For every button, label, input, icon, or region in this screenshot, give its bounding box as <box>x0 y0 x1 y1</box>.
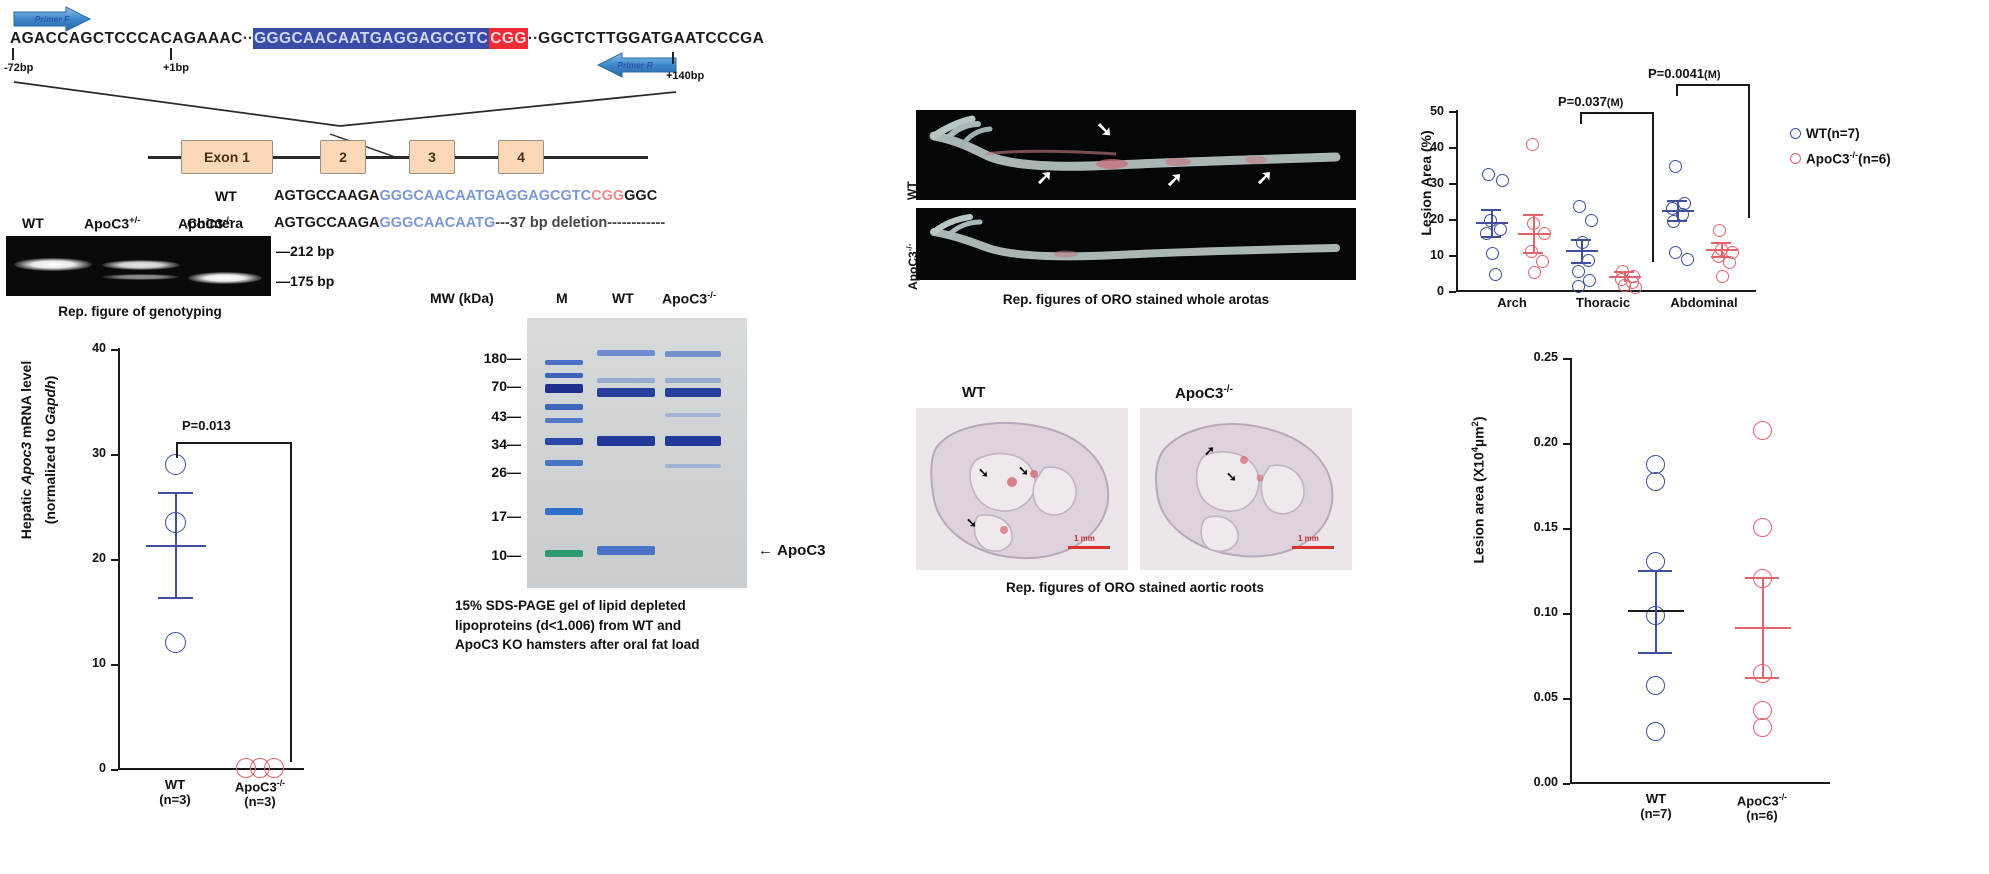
lesion-errcap-ko-arch <box>1523 252 1543 254</box>
root-point-ko <box>1753 421 1772 440</box>
legend-dot-ko-icon <box>1790 153 1801 164</box>
lesion-errorbar-ko-arch <box>1533 214 1535 252</box>
histology-photo-ko: ➚ ➘ 1 mm <box>1140 408 1352 570</box>
aorta-arrow-icon: ➚ <box>1036 168 1053 188</box>
sds-mw-34: 34— <box>455 436 521 452</box>
lesion-errorbar-wt-arch <box>1491 209 1493 236</box>
mrna-y-axis <box>118 348 120 770</box>
lesion-bracket-top-thoracic <box>1580 112 1654 114</box>
sds-mw-10: 10— <box>455 547 521 563</box>
lesion-point-ko-abdominal <box>1713 224 1726 237</box>
lesion-pct-ylabel-10: 10 <box>1412 248 1444 262</box>
wt-prefix: AGTGCCAAGA <box>274 188 380 204</box>
lesion-errcap-wt-thoracic <box>1571 239 1591 241</box>
histology-caption: Rep. figures of ORO stained aortic roots <box>910 580 1360 595</box>
lesion-pct-ylabel-0: 0 <box>1412 284 1444 298</box>
lesion-errcap-wt-abdominal <box>1667 220 1687 222</box>
histology-arrow-icon: ➘ <box>1018 464 1029 477</box>
histology-scale-text-wt: 1 mm <box>1074 534 1095 543</box>
sds-caption-line3: ApoC3 KO hamsters after oral fat load <box>455 635 785 655</box>
exon-box-4: 4 <box>498 140 544 174</box>
gel-marker-212: —212 bp <box>276 243 334 259</box>
sequence-gap-left: ·· <box>243 30 253 47</box>
root-ylabel-020: 0.20 <box>1500 435 1558 449</box>
upstream-sequence: AGACCAGCTCCCACAGAAAC <box>10 30 243 47</box>
root-errcap-top-ko <box>1745 577 1779 579</box>
lesion-point-ko-abdominal <box>1716 270 1729 283</box>
lesion-errcap-wt-thoracic <box>1571 262 1591 264</box>
lesion-point-wt-arch <box>1486 247 1499 260</box>
lesion-bracket-right-abdominal <box>1748 84 1750 218</box>
lesion-point-wt-thoracic <box>1582 254 1595 267</box>
aorta-arrow-icon: ➚ <box>1166 170 1183 190</box>
gel-lane-label-het: ApoC3+/- <box>84 215 141 232</box>
lesion-bracket-right-thoracic <box>1652 112 1654 262</box>
root-errcap-top-wt <box>1638 570 1672 572</box>
mrna-point-ko <box>264 758 284 778</box>
pam-sequence: CGG <box>489 28 528 49</box>
tick-right <box>672 52 674 64</box>
protospacer-sequence: GGGCAACAATGAGGAGCGTC <box>253 28 489 49</box>
mrna-errcap-top-wt <box>158 492 193 494</box>
genotyping-gel-image <box>6 236 271 296</box>
lesion-pct-ytick-10 <box>1449 255 1456 257</box>
histology-scalebar-wt <box>1068 546 1110 549</box>
mrna-ylabel-30: 30 <box>72 446 106 460</box>
mrna-ylabel-20: 20 <box>72 551 106 565</box>
lesion-pct-ylabel-50: 50 <box>1412 104 1444 118</box>
gel-lane-label-wt: WT <box>22 215 44 231</box>
lesion-errcap-ko-abdominal <box>1711 242 1731 244</box>
alignment-wt-label: WT <box>215 188 237 204</box>
lesion-bracket-left-abdominal <box>1676 84 1678 96</box>
root-point-ko <box>1753 718 1772 737</box>
mrna-errorbar-wt <box>175 492 177 597</box>
root-point-wt <box>1646 472 1665 491</box>
histology-photo-wt: ➘ ➘ ➘ 1 mm <box>916 408 1128 570</box>
lesion-errorbar-wt-abdominal <box>1677 200 1679 220</box>
tick-mid <box>170 48 172 60</box>
histology-scalebar-ko <box>1292 546 1334 549</box>
lesion-point-ko-arch <box>1526 138 1539 151</box>
sds-axis-title: MW (kDa) <box>430 290 494 306</box>
lesion-pvalue-abdominal: P=0.0041(M) <box>1648 66 1721 81</box>
sds-caption-line1: 15% SDS-PAGE gel of lipid depleted <box>455 596 785 616</box>
mrna-ytick-0 <box>111 769 118 771</box>
root-ytick-020 <box>1563 443 1570 445</box>
tick-left <box>12 48 14 60</box>
mrna-ylabel-line2: (normalized to Gapdh) <box>42 300 58 600</box>
sds-mw-17: 17— <box>455 508 521 524</box>
exon-box-2: 2 <box>320 140 366 174</box>
sds-mw-43: 43— <box>455 408 521 424</box>
lesion-point-wt-thoracic <box>1572 280 1585 293</box>
root-ylabel-025: 0.25 <box>1500 350 1558 364</box>
root-chart-ylabel: Lesion area (X104µm2) <box>1470 340 1487 640</box>
lesion-errcap-ko-thoracic <box>1614 271 1634 273</box>
downstream-sequence: GGCTCTTGGATGAATCCCGA <box>538 30 764 47</box>
sds-caption-line2: lipoproteins (d<1.006) from WT and <box>455 616 785 636</box>
mrna-ytick-10 <box>111 664 118 666</box>
legend-dot-wt-icon <box>1790 128 1801 139</box>
root-ytick-015 <box>1563 528 1570 530</box>
alignment-chimera-sequence: AGTGCCAAGAGGGCAACAATG---37 bp deletion--… <box>274 215 665 231</box>
lesion-pct-ytick-20 <box>1449 219 1456 221</box>
exon-box-1: Exon 1 <box>181 140 273 174</box>
lesion-xlabel-abdominal: Abdominal <box>1652 296 1756 311</box>
histology-label-wt: WT <box>962 384 985 401</box>
root-xlabel-ko: ApoC3-/-(n=6) <box>1712 792 1812 824</box>
root-ylabel-010: 0.10 <box>1500 605 1558 619</box>
aorta-caption: Rep. figures of ORO stained whole arotas <box>916 292 1356 307</box>
chimera-kept: GGGCAACAATG <box>380 215 496 231</box>
histology-label-ko: ApoC3-/- <box>1175 384 1233 402</box>
wt-pam: CGG <box>591 188 624 204</box>
lesion-errcap-ko-abdominal <box>1711 256 1731 258</box>
root-point-ko <box>1753 518 1772 537</box>
lesion-point-wt-arch <box>1496 174 1509 187</box>
mrna-point-wt <box>165 632 186 653</box>
alignment-wt-sequence: AGTGCCAAGAGGGCAACAATGAGGAGCGTCCGGGGC <box>274 188 657 204</box>
mrna-bracket-left <box>176 442 178 458</box>
root-point-wt <box>1646 676 1665 695</box>
lesion-point-wt-arch <box>1482 168 1495 181</box>
mrna-ylabel-line1: Hepatic Apoc3 mRNA level <box>18 300 34 600</box>
aorta-arrow-icon: ➚ <box>1256 168 1273 188</box>
root-xlabel-wt: WT(n=7) <box>1618 792 1694 822</box>
lesion-pct-ytick-40 <box>1449 147 1456 149</box>
root-point-wt <box>1646 552 1665 571</box>
mrna-ytick-40 <box>111 349 118 351</box>
lesion-point-wt-abdominal <box>1669 160 1682 173</box>
lesion-errcap-wt-arch <box>1481 209 1501 211</box>
sds-lane-wt: WT <box>612 290 634 306</box>
root-errcap-bottom-wt <box>1638 652 1672 654</box>
legend-item-wt: WT(n=7) <box>1790 126 1860 141</box>
lesion-point-ko-arch <box>1528 266 1541 279</box>
mrna-pvalue: P=0.013 <box>182 418 231 433</box>
lesion-point-wt-arch <box>1489 268 1502 281</box>
root-errcap-bottom-ko <box>1745 677 1779 679</box>
sds-mw-70: 70— <box>455 378 521 394</box>
histology-arrow-icon: ➘ <box>978 466 989 479</box>
mrna-ytick-20 <box>111 559 118 561</box>
root-ytick-025 <box>1563 358 1570 360</box>
root-ylabel-015: 0.15 <box>1500 520 1558 534</box>
lesion-pvalue-thoracic: P=0.037(M) <box>1558 94 1623 109</box>
lesion-point-ko-thoracic <box>1629 281 1642 294</box>
lesion-pct-ylabel-40: 40 <box>1412 140 1444 154</box>
lesion-errcap-wt-arch <box>1481 236 1501 238</box>
sequence-gap-right: ·· <box>528 30 538 47</box>
lesion-point-wt-abdominal <box>1681 253 1694 266</box>
apoc3-band-annotation: ← ApoC3 <box>758 542 826 559</box>
lesion-errorbar-ko-abdominal <box>1721 242 1723 256</box>
sds-mw-180: 180— <box>455 350 521 366</box>
lesion-pct-x-axis <box>1456 290 1756 292</box>
lesion-bracket-left-thoracic <box>1580 112 1582 124</box>
root-chart-y-axis <box>1570 358 1572 782</box>
root-chart-x-axis <box>1570 782 1830 784</box>
aorta-photo-wt: ➘ ➚ ➚ ➚ <box>916 110 1356 200</box>
gel-lane-label-ko: ApoC3-/- <box>178 215 232 232</box>
root-ylabel-000: 0.00 <box>1500 775 1558 789</box>
lesion-errcap-wt-abdominal <box>1667 200 1687 202</box>
mrna-bracket-right <box>290 442 292 762</box>
root-ytick-010 <box>1563 613 1570 615</box>
root-ylabel-005: 0.05 <box>1500 690 1558 704</box>
chimera-prefix: AGTGCCAAGA <box>274 215 380 231</box>
aorta-photo-ko <box>916 208 1356 280</box>
legend-item-ko: ApoC3-/-(n=6) <box>1790 150 1891 167</box>
pos-left-label: -72bp <box>4 62 33 74</box>
lesion-pct-ylabel-20: 20 <box>1412 212 1444 226</box>
sds-caption: 15% SDS-PAGE gel of lipid depleted lipop… <box>455 596 785 655</box>
lesion-xlabel-thoracic: Thoracic <box>1558 296 1648 311</box>
aorta-arrow-icon: ➘ <box>1096 120 1113 140</box>
guide-sequence-line: AGACCAGCTCCCACAGAAAC··GGGCAACAATGAGGAGCG… <box>10 30 764 48</box>
pos-mid-label: +1bp <box>163 62 189 74</box>
lesion-bracket-top-abdominal <box>1676 84 1750 86</box>
sds-mw-26: 26— <box>455 464 521 480</box>
sds-page-gel-image <box>527 318 747 588</box>
lesion-errcap-ko-arch <box>1523 214 1543 216</box>
lesion-pct-ylabel-30: 30 <box>1412 176 1444 190</box>
lesion-point-wt-abdominal <box>1669 246 1682 259</box>
mrna-ylabel-40: 40 <box>72 341 106 355</box>
leader-lines <box>0 78 760 163</box>
root-point-wt <box>1646 722 1665 741</box>
mrna-xlabel-wt: WT(n=3) <box>140 778 210 808</box>
gel-marker-175: —175 bp <box>276 273 334 289</box>
mrna-bracket-top <box>176 442 292 444</box>
mrna-ylabel-0: 0 <box>72 761 106 775</box>
root-ytick-000 <box>1563 783 1570 785</box>
lesion-xlabel-arch: Arch <box>1472 296 1552 311</box>
wt-protospacer: GGGCAACAATGAGGAGCGTC <box>380 188 592 204</box>
primer-f-label: Primer F <box>12 6 92 32</box>
lesion-pct-y-axis <box>1456 110 1458 292</box>
exon-box-3: 3 <box>409 140 455 174</box>
histology-arrow-icon: ➘ <box>966 516 977 529</box>
mrna-ylabel-10: 10 <box>72 656 106 670</box>
lesion-pct-ytick-30 <box>1449 183 1456 185</box>
lesion-point-wt-arch <box>1494 223 1507 236</box>
histology-arrow-icon: ➘ <box>1226 470 1237 483</box>
root-errorbar-wt <box>1655 570 1657 652</box>
wt-suffix: GGC <box>624 188 657 204</box>
mrna-errcap-bottom-wt <box>158 597 193 599</box>
chimera-deletion: ---37 bp deletion------------ <box>495 215 665 231</box>
sds-lane-ko: ApoC3-/- <box>662 290 716 307</box>
root-ytick-005 <box>1563 698 1570 700</box>
histology-scale-text-ko: 1 mm <box>1298 534 1319 543</box>
lesion-point-wt-thoracic <box>1585 214 1598 227</box>
lesion-point-wt-thoracic <box>1573 200 1586 213</box>
histology-arrow-icon: ➚ <box>1204 444 1215 457</box>
lesion-pct-ytick-50 <box>1449 111 1456 113</box>
lesion-pct-ytick-0 <box>1449 291 1456 293</box>
root-errorbar-ko <box>1762 577 1764 677</box>
lesion-errorbar-wt-thoracic <box>1581 239 1583 262</box>
mrna-xlabel-ko: ApoC3-/-(n=3) <box>216 778 304 810</box>
primer-f-arrow-icon: Primer F <box>12 6 92 32</box>
sds-lane-m: M <box>556 290 568 306</box>
mrna-ytick-30 <box>111 454 118 456</box>
